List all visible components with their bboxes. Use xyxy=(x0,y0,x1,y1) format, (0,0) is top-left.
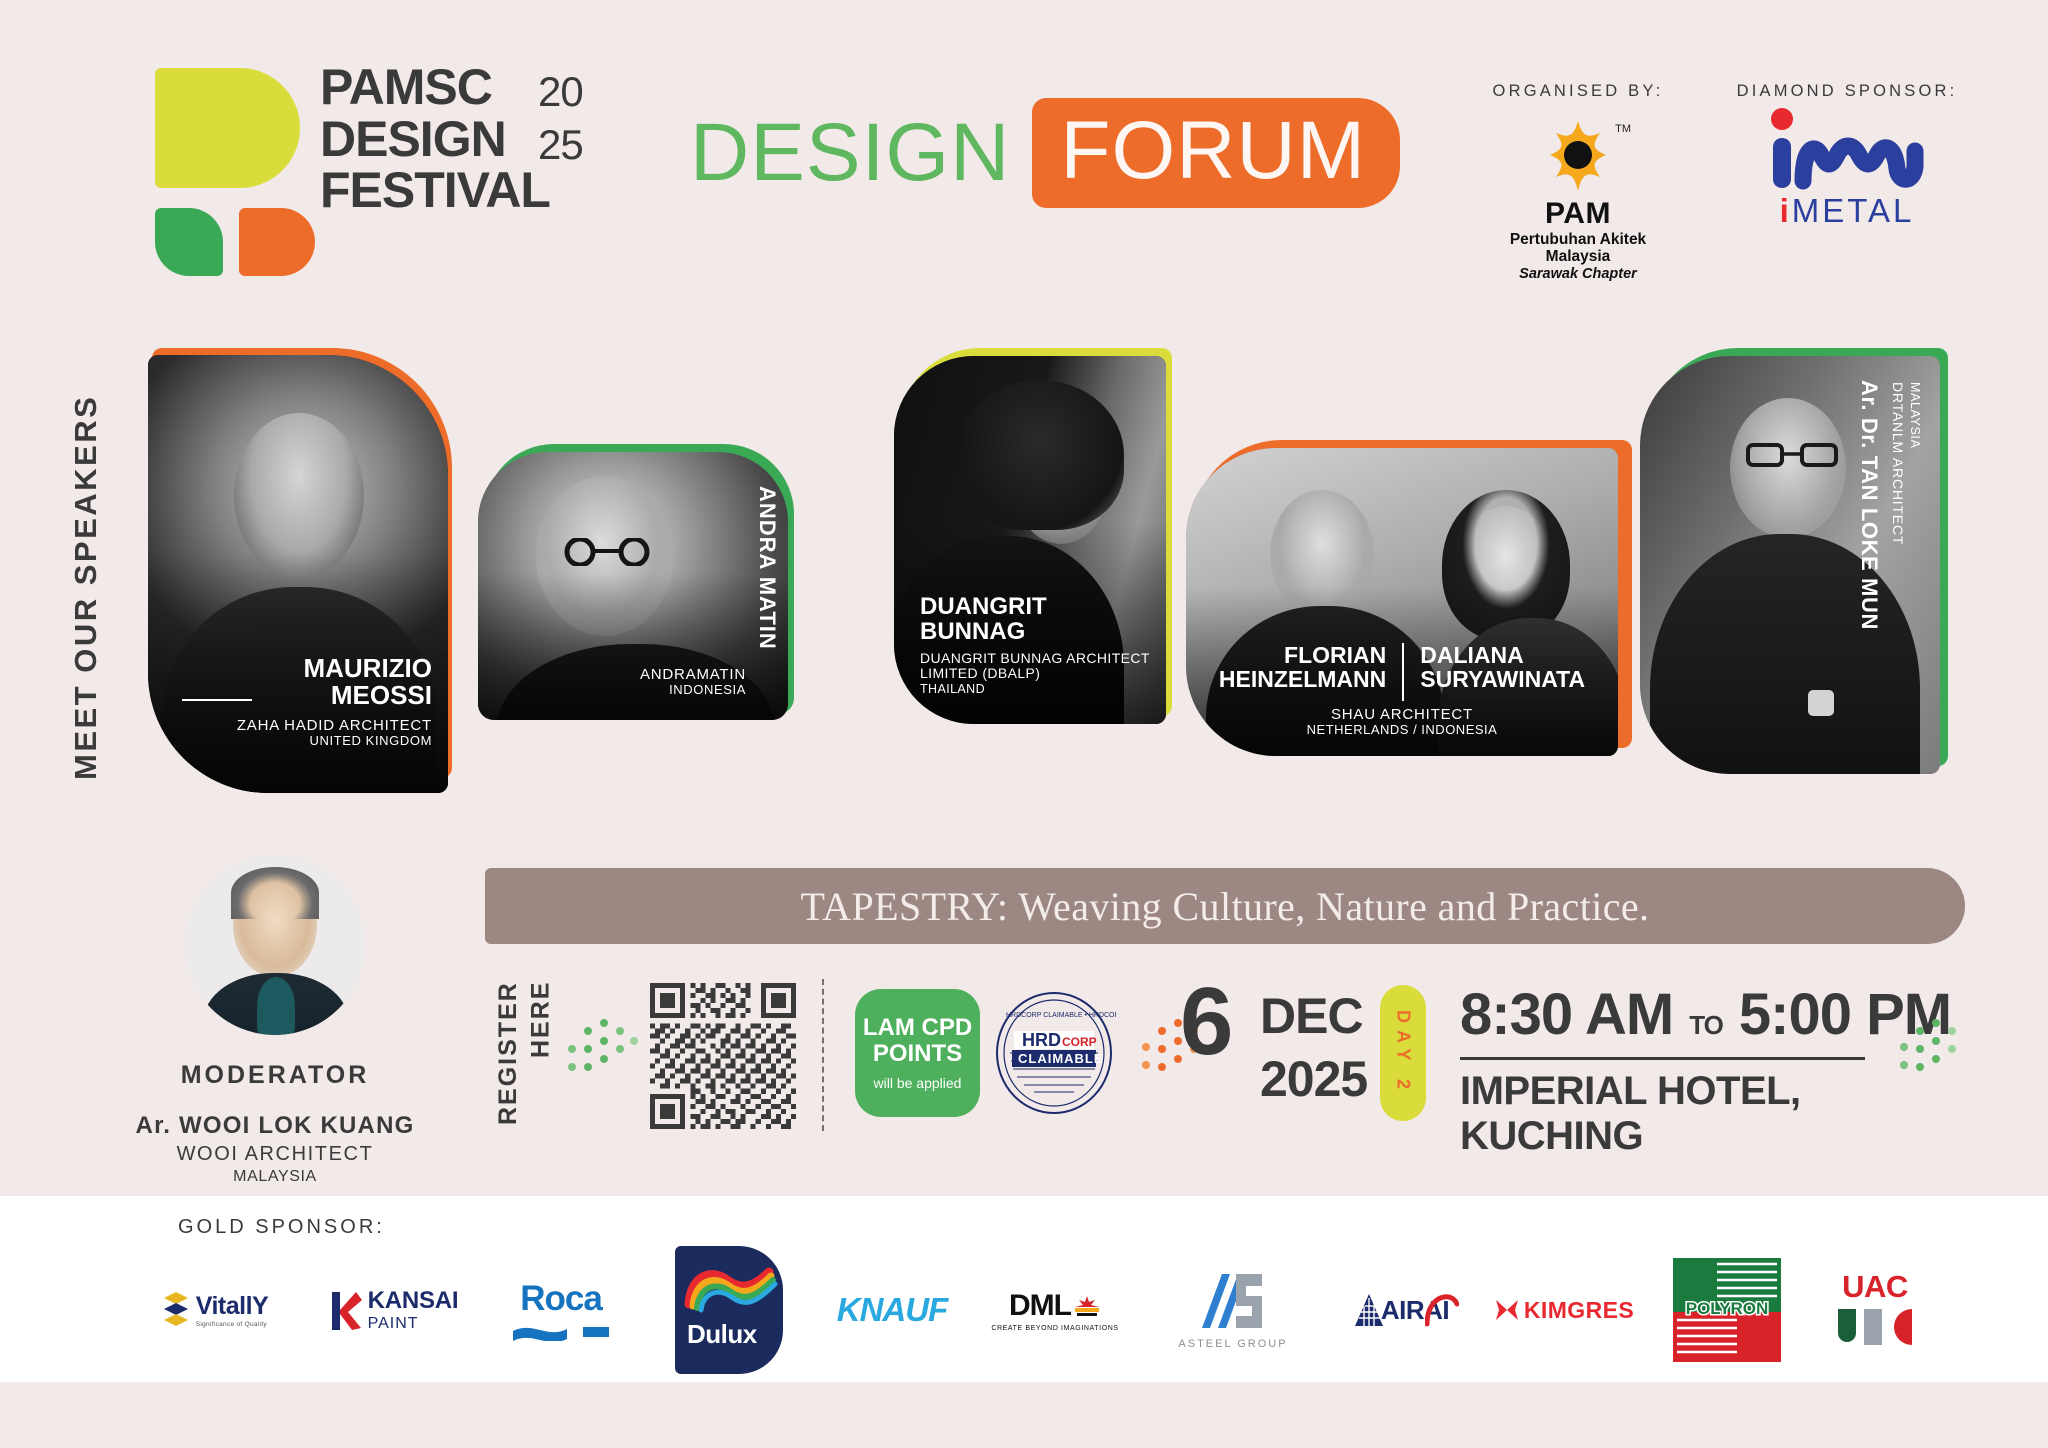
polyron-mark: POLYRON xyxy=(1673,1258,1781,1362)
diamond-sponsor-block: DIAMOND SPONSOR: iMETAL xyxy=(1732,82,1962,230)
brand-year-top: 20 xyxy=(538,66,583,119)
moderator-firm: WOOI ARCHITECT xyxy=(130,1143,420,1166)
logo-shape-green xyxy=(155,208,223,276)
event-time-start: 8:30 AM xyxy=(1460,981,1673,1048)
event-day-number: 6 xyxy=(1180,977,1231,1067)
speaker-5-watch-icon xyxy=(1808,690,1834,716)
speaker-card-5[interactable]: Ar. Dr. TAN LOKE MUN DRTANLM ARCHITECT M… xyxy=(1640,356,1940,774)
title-forum-word: FORUM xyxy=(1060,104,1366,198)
dot-cluster-green-right xyxy=(1900,1019,1966,1083)
register-here-label: REGISTER HERE xyxy=(492,981,557,1129)
speaker-4-name-right-line2: SURYAWINATA xyxy=(1420,667,1585,691)
gold-sponsor-logos: VitallY Significance of Quality KANSAI P… xyxy=(140,1250,1930,1370)
airai-arc-icon xyxy=(1425,1288,1459,1328)
pam-logo: TM xyxy=(1523,117,1633,195)
hrdcorp-claimable-badge: HRD CORP CLAIMABLE HRDCORP CLAIMABLE • H… xyxy=(992,991,1116,1115)
sponsor-logo-roca: Roca xyxy=(496,1255,626,1365)
speaker-5-firm-vertical: DRTANLM ARCHITECT xyxy=(1890,382,1906,545)
pam-line2: Malaysia xyxy=(1478,248,1678,265)
gold-sponsor-bar: GOLD SPONSOR: VitallY Significance of Qu… xyxy=(0,1196,2048,1382)
poster-header: PAMSC DESIGN FESTIVAL 20 25 DESIGN FORUM… xyxy=(0,0,2048,300)
vitally-tagline: Significance of Quality xyxy=(196,1321,268,1328)
roca-wave-icon xyxy=(513,1321,609,1341)
design-forum-poster: PAMSC DESIGN FESTIVAL 20 25 DESIGN FORUM… xyxy=(0,0,2048,1448)
brand-year: 20 25 xyxy=(538,66,583,171)
register-line2: HERE xyxy=(527,981,555,1058)
title-forum-pill: FORUM xyxy=(1032,98,1400,208)
speaker-4-name-left-line2: HEINZELMANN xyxy=(1219,667,1386,691)
imetal-i-letter: i xyxy=(1780,192,1792,229)
dml-mark-icon xyxy=(1073,1294,1101,1318)
speaker-5-name-vertical: Ar. Dr. TAN LOKE MUN xyxy=(1856,380,1882,630)
brand-line-design: DESIGN xyxy=(320,114,650,166)
speaker-1-name-line1: MAURIZIO xyxy=(182,655,432,682)
kansai-sub: PAINT xyxy=(368,1315,459,1333)
dulux-swoosh-icon xyxy=(683,1260,779,1320)
moderator-name: Ar. WOOI LOK KUANG xyxy=(130,1112,420,1140)
speaker-1-country: UNITED KINGDOM xyxy=(182,734,432,749)
sponsor-logo-knauf: KNAUF xyxy=(832,1255,952,1365)
speaker-3-caption: DUANGRIT BUNNAG DUANGRIT BUNNAG ARCHITEC… xyxy=(920,594,1160,696)
speaker-5-country-vertical: MALAYSIA xyxy=(1908,382,1922,448)
svg-text:CORP: CORP xyxy=(1062,1035,1097,1049)
speaker-1-caption: MAURIZIO MEOSSI ZAHA HADID ARCHITECT UNI… xyxy=(182,655,432,749)
kansai-name: KANSAI xyxy=(368,1287,459,1315)
organised-by-caption: ORGANISED BY: xyxy=(1478,82,1678,101)
speaker-3-country: THAILAND xyxy=(920,682,1160,696)
moderator-block: MODERATOR Ar. WOOI LOK KUANG WOOI ARCHIT… xyxy=(130,855,420,1186)
sponsor-logo-polyron: POLYRON xyxy=(1662,1255,1792,1365)
uac-name: UAC xyxy=(1836,1269,1914,1305)
lam-cpd-line1: LAM CPD xyxy=(863,1015,972,1041)
brand-year-bottom: 25 xyxy=(538,119,583,172)
speaker-card-4[interactable]: FLORIAN HEINZELMANN DALIANA SURYAWINATA … xyxy=(1186,448,1618,756)
organised-by-block: ORGANISED BY: TM PAM Pertubuhan Akitek M… xyxy=(1478,82,1678,282)
pam-star-icon xyxy=(1530,119,1626,195)
brand-wordmark: PAMSC DESIGN FESTIVAL xyxy=(320,62,650,217)
speaker-3-firm-line1: DUANGRIT BUNNAG ARCHITECT xyxy=(920,651,1160,667)
day-number-pill: DAY 2 xyxy=(1380,985,1426,1121)
speaker-1-name-line2: MEOSSI xyxy=(182,682,432,709)
lam-cpd-badge: LAM CPD POINTS will be applied xyxy=(855,989,980,1117)
speaker-2-name-vertical: ANDRA MATIN xyxy=(754,486,780,650)
speaker-2-firm: ANDRAMATIN xyxy=(526,667,746,684)
tapestry-theme-text: TAPESTRY: Weaving Culture, Nature and Pr… xyxy=(801,883,1650,930)
kansai-k-icon xyxy=(328,1288,362,1332)
moderator-country: MALAYSIA xyxy=(130,1168,420,1186)
speaker-2-country: INDONESIA xyxy=(526,683,746,698)
speaker-2-caption: ANDRAMATIN INDONESIA xyxy=(526,667,746,698)
qr-code-icon xyxy=(650,983,796,1129)
brand-line-festival: FESTIVAL xyxy=(320,165,650,217)
pam-trademark: TM xyxy=(1615,123,1631,135)
sponsor-logo-dml: DML CREATE BEYOND IMAGINATIONS xyxy=(980,1255,1130,1365)
event-year: 2025 xyxy=(1260,1048,1367,1111)
speaker-3-hair xyxy=(956,380,1124,530)
event-month-year: DEC 2025 xyxy=(1260,985,1367,1110)
brand-line-pamsc: PAMSC xyxy=(320,62,650,114)
lam-cpd-line2: POINTS xyxy=(873,1041,962,1067)
diamond-sponsor-caption: DIAMOND SPONSOR: xyxy=(1732,82,1962,101)
polyron-stripes-icon: POLYRON xyxy=(1673,1258,1781,1362)
sponsor-logo-kansai-paint: KANSAI PAINT xyxy=(318,1255,468,1365)
kimgres-name: KIMGRES xyxy=(1524,1297,1634,1324)
details-divider-left xyxy=(822,979,824,1131)
speaker-5-glasses-icon xyxy=(1744,442,1840,468)
sponsor-logo-dulux: Dulux xyxy=(654,1255,804,1365)
moderator-avatar xyxy=(185,855,365,1035)
event-time-to: TO xyxy=(1689,1010,1723,1041)
imetal-logo: iMETAL xyxy=(1752,107,1942,230)
speaker-card-1[interactable]: MAURIZIO MEOSSI ZAHA HADID ARCHITECT UNI… xyxy=(148,355,448,793)
logo-shape-lime xyxy=(155,68,300,188)
speaker-1-firm: ZAHA HADID ARCHITECT xyxy=(182,718,432,735)
knauf-name: KNAUF xyxy=(837,1291,947,1329)
uac-bars-icon xyxy=(1836,1307,1914,1347)
pam-line1: Pertubuhan Akitek xyxy=(1478,231,1678,248)
kimgres-butterfly-icon xyxy=(1494,1298,1520,1322)
design-forum-title: DESIGN FORUM xyxy=(690,98,1400,208)
speaker-4-name-left-line1: FLORIAN xyxy=(1219,643,1386,667)
svg-text:HRDCORP CLAIMABLE • HRDCORP: HRDCORP CLAIMABLE • HRDCORP xyxy=(1006,1012,1116,1019)
imetal-wave-icon xyxy=(1757,107,1937,193)
speaker-4-caption: FLORIAN HEINZELMANN DALIANA SURYAWINATA … xyxy=(1186,643,1618,738)
lam-cpd-note: will be applied xyxy=(874,1075,962,1091)
dulux-tin: Dulux xyxy=(675,1246,783,1374)
event-details-row: REGISTER HERE xyxy=(470,975,1990,1135)
speaker-card-3[interactable]: DUANGRIT BUNNAG DUANGRIT BUNNAG ARCHITEC… xyxy=(894,356,1166,724)
sponsor-logo-vitally: VitallY Significance of Quality xyxy=(140,1255,290,1365)
imetal-wordmark: iMETAL xyxy=(1752,192,1942,230)
roca-name: Roca xyxy=(520,1279,602,1319)
speaker-2-glasses-icon xyxy=(556,538,660,566)
dulux-name: Dulux xyxy=(687,1319,757,1350)
vitally-name: VitallY xyxy=(196,1292,268,1321)
speaker-1-name-rule xyxy=(182,699,252,701)
day-pill-label: DAY 2 xyxy=(1393,1010,1414,1096)
moderator-title: MODERATOR xyxy=(130,1061,420,1090)
speaker-3-name-line2: BUNNAG xyxy=(920,619,1160,644)
polyron-name: POLYRON xyxy=(1686,1299,1769,1318)
asteel-mark-icon xyxy=(1196,1270,1270,1334)
bottom-strip xyxy=(0,1382,2048,1448)
moderator-shirt xyxy=(257,977,295,1035)
logo-shape-orange xyxy=(239,208,315,276)
sponsor-logo-uac: UAC xyxy=(1820,1255,1930,1365)
speaker-4-name-right-line1: DALIANA xyxy=(1420,643,1585,667)
moderator-hair xyxy=(231,867,319,919)
asteel-name: ASTEEL GROUP xyxy=(1178,1338,1287,1350)
event-time-row: 8:30 AM TO 5:00 PM xyxy=(1460,981,1951,1048)
sponsor-logo-airai: AIRAI xyxy=(1336,1255,1466,1365)
speaker-3-firm-line2: LIMITED (DBALP) xyxy=(920,666,1160,682)
pamsc-logo-mark xyxy=(155,68,315,273)
pam-acronym: PAM xyxy=(1478,197,1678,231)
time-venue-rule xyxy=(1460,1057,1865,1060)
dml-name: DML xyxy=(1009,1289,1071,1323)
hrdcorp-seal-icon: HRD CORP CLAIMABLE HRDCORP CLAIMABLE • H… xyxy=(992,991,1116,1115)
pam-chapter: Sarawak Chapter xyxy=(1478,266,1678,282)
speaker-3-name-line1: DUANGRIT xyxy=(920,594,1160,619)
registration-qr-code[interactable] xyxy=(650,983,796,1129)
speaker-card-2[interactable]: ANDRA MATIN ANDRAMATIN INDONESIA xyxy=(478,452,788,720)
dot-cluster-green xyxy=(566,1017,638,1081)
meet-our-speakers-label: MEET OUR SPEAKERS xyxy=(68,340,104,780)
vitally-stack-icon xyxy=(162,1290,190,1330)
tapestry-theme-banner: TAPESTRY: Weaving Culture, Nature and Pr… xyxy=(485,868,1965,944)
register-line1: REGISTER xyxy=(494,981,522,1125)
speaker-4-country: NETHERLANDS / INDONESIA xyxy=(1186,723,1618,738)
sponsor-logo-asteel-group: ASTEEL GROUP xyxy=(1158,1255,1308,1365)
speaker-4-firm: SHAU ARCHITECT xyxy=(1186,707,1618,724)
sponsor-logo-kimgres: KIMGRES xyxy=(1494,1255,1634,1365)
imetal-metal-letters: METAL xyxy=(1792,192,1915,229)
event-month: DEC xyxy=(1260,985,1367,1048)
svg-text:CLAIMABLE: CLAIMABLE xyxy=(1018,1051,1104,1066)
svg-text:HRD: HRD xyxy=(1022,1030,1061,1050)
dml-tagline: CREATE BEYOND IMAGINATIONS xyxy=(991,1325,1118,1332)
title-design-word: DESIGN xyxy=(690,106,1010,200)
gold-sponsor-caption: GOLD SPONSOR: xyxy=(178,1216,385,1239)
